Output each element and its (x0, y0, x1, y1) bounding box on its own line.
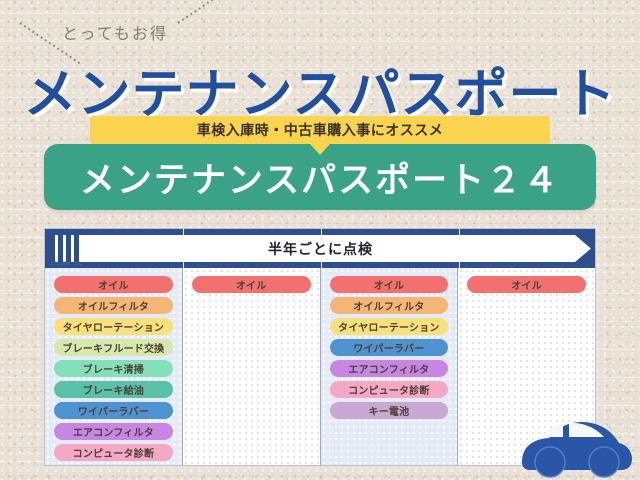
service-pill: コンピュータ診断 (54, 444, 173, 461)
service-pill: オイル (192, 276, 311, 293)
recommend-ribbon: 車検入庫時・中古車購入事にオススメ (90, 116, 550, 144)
service-pill: ブレーキ清掃 (54, 360, 173, 377)
service-pill: ワイパーラバー (54, 402, 173, 419)
product-banner-text: メンテナンスパスポート２４ (80, 152, 560, 203)
schedule-column-1: オイルオイルフィルタタイヤローテーションブレーキフルード交換ブレーキ清掃ブレーキ… (45, 268, 183, 465)
schedule-column-3: オイルオイルフィルタタイヤローテーションワイパーラバーエアコンフィルタコンピュー… (321, 268, 459, 465)
tagline-group: とってもお得 (0, 10, 300, 50)
service-pill: オイル (467, 276, 586, 293)
service-pill: オイル (330, 276, 449, 293)
service-pill: ワイパーラバー (330, 339, 449, 356)
car-icon (516, 406, 634, 478)
schedule-column-2: オイル (183, 268, 321, 465)
ribbon-notch-icon (310, 144, 330, 155)
service-pill: コンピュータ診断 (330, 381, 449, 398)
service-pill: ブレーキフルード交換 (54, 339, 173, 356)
service-pill: オイルフィルタ (330, 297, 449, 314)
service-pill: キー電池 (330, 402, 449, 419)
service-pill: タイヤローテーション (54, 318, 173, 335)
service-pill: オイル (54, 276, 173, 293)
tagline-text: とってもお得 (62, 20, 168, 44)
schedule-columns: オイルオイルフィルタタイヤローテーションブレーキフルード交換ブレーキ清掃ブレーキ… (45, 268, 595, 465)
schedule-panel: 半年ごとに点検 ENGINE OIL オイルオイルフィルタタイヤローテーションブ… (44, 228, 596, 466)
schedule-header: 半年ごとに点検 ENGINE OIL (45, 229, 595, 268)
service-pill: オイルフィルタ (54, 297, 173, 314)
interval-arrow-bar: 半年ごとに点検 (50, 235, 591, 262)
service-pill: エアコンフィルタ (330, 360, 449, 377)
recommend-ribbon-text: 車検入庫時・中古車購入事にオススメ (197, 120, 444, 140)
interval-label: 半年ごとに点検 (268, 239, 373, 259)
service-pill: タイヤローテーション (330, 318, 449, 335)
service-pill: エアコンフィルタ (54, 423, 173, 440)
tick-marks-icon (50, 235, 79, 262)
service-pill: ブレーキ給油 (54, 381, 173, 398)
